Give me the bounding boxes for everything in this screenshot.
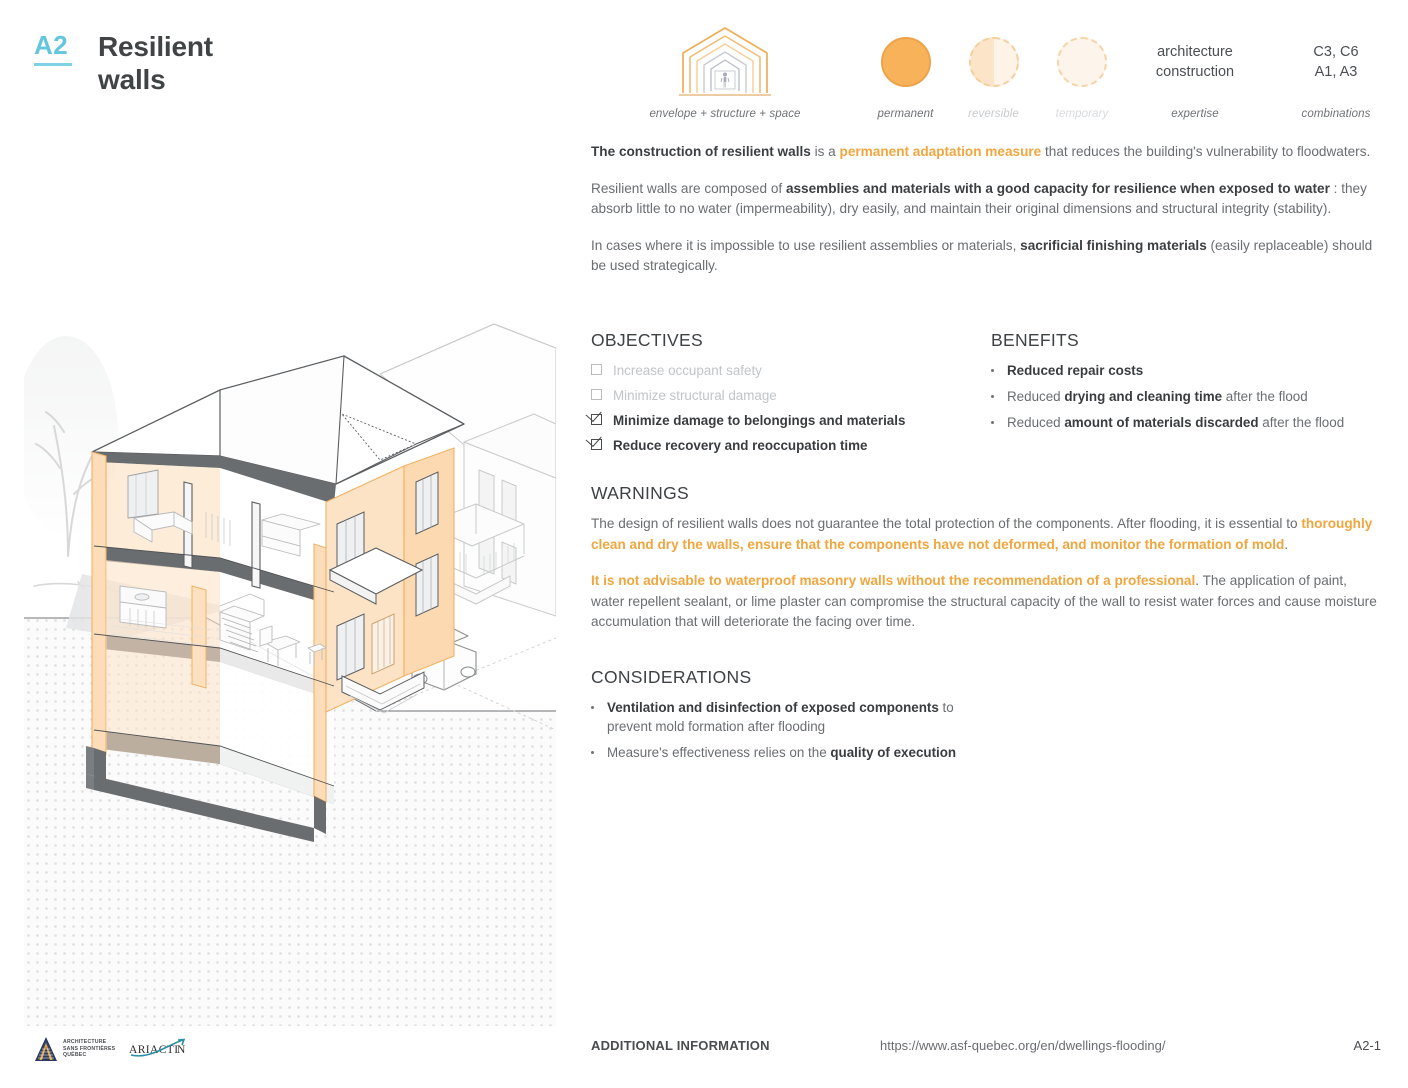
objective-label: Minimize damage to belongings and materi… [613,411,905,430]
pictogram-reversible-caption: reversible [946,108,1041,120]
list-item: Reduced repair costs [991,361,1381,380]
section-benefits: BENEFITS Reduced repair costsReduced dry… [991,330,1381,439]
objective-label: Reduce recovery and reoccupation time [613,436,868,455]
sheet-code: A2 [34,30,88,60]
resilient-wall-front-column [314,544,326,802]
pictogram-permanent: permanent [858,22,953,120]
combinations-value-2: A1, A3 [1315,62,1358,82]
section-warnings: WARNINGS The design of resilient walls d… [591,483,1381,649]
list-item: Ventilation and disinfection of exposed … [591,698,991,736]
bullet-dot [991,421,994,424]
pictogram-scope: envelope + structure + space [590,22,860,120]
objectives-list: Increase occupant safetyMinimize structu… [591,361,991,455]
objective-label: Increase occupant safety [613,361,762,380]
pictogram-scope-caption: envelope + structure + space [590,108,860,120]
objective-item[interactable]: Minimize structural damage [591,386,991,405]
additional-information-url[interactable]: https://www.asf-quebec.org/en/dwellings-… [880,1038,1165,1053]
pictogram-combinations: C3, C6 A1, A3 combinations [1266,22,1406,120]
pictogram-permanent-caption: permanent [858,108,953,120]
sheet-code-block: A2 [34,30,88,66]
asf-logo-text: ARCHITECTURESANS FRONTIÈRESQUÉBEC [63,1039,115,1058]
list-item-label: Reduced amount of materials discarded af… [1007,413,1344,432]
pictogram-reversible: reversible [946,22,1041,120]
intro-paragraph-2: Resilient walls are composed of assembli… [591,179,1381,220]
objectives-heading: OBJECTIVES [591,330,991,351]
list-item: Measure's effectiveness relies on the qu… [591,743,991,762]
objective-checkbox[interactable] [591,414,602,425]
warnings-paragraph-2: It is not advisable to waterproof masonr… [591,571,1381,633]
resilient-wall-left-edge [92,452,106,754]
intro-paragraph-3: In cases where it is impossible to use r… [591,236,1381,277]
list-item-label: Reduced repair costs [1007,361,1143,380]
intro-paragraph-1: The construction of resilient walls is a… [591,142,1381,163]
left-column: A2 Resilientwalls [0,0,560,1088]
pictogram-expertise-caption: expertise [1120,108,1270,120]
footer-logos: ARCHITECTURESANS FRONTIÈRESQUÉBEC ARIACT… [34,1036,191,1062]
illustration-isometric-house-section [24,256,556,1026]
list-item: Reduced amount of materials discarded af… [991,413,1381,432]
objective-label: Minimize structural damage [613,386,777,405]
list-item-label: Reduced drying and cleaning time after t… [1007,387,1308,406]
logo-ariaction: ARIACTI N [129,1038,191,1060]
dashed-circle-icon [1033,22,1131,102]
expertise-value-2: construction [1156,62,1234,82]
objective-checkbox[interactable] [591,389,602,400]
considerations-heading: CONSIDERATIONS [591,667,991,688]
pictogram-expertise: architecture construction expertise [1120,22,1270,120]
list-item-label: Ventilation and disinfection of exposed … [607,698,991,736]
pictogram-combinations-caption: combinations [1266,108,1406,120]
pictogram-strip: envelope + structure + space permanent r… [590,22,1380,122]
combinations-value-1: C3, C6 [1313,42,1358,62]
expertise-values: architecture construction [1120,22,1270,102]
list-item-label: Measure's effectiveness relies on the qu… [607,743,956,762]
svg-text:N: N [177,1044,186,1056]
sheet-code-underline [34,63,72,66]
benefits-list: Reduced repair costsReduced drying and c… [991,361,1381,432]
expertise-value-1: architecture [1157,42,1233,62]
pictogram-temporary-caption: temporary [1033,108,1131,120]
combinations-values: C3, C6 A1, A3 [1266,22,1406,102]
sheet-header: A2 Resilientwalls [34,30,213,96]
sheet-page: A2 Resilientwalls [0,0,1408,1088]
objective-item[interactable]: Reduce recovery and reoccupation time [591,436,991,455]
intro-text: The construction of resilient walls is a… [591,142,1381,293]
page-footer: ADDITIONAL INFORMATION https://www.asf-q… [591,1038,1381,1056]
bullet-dot [591,751,594,754]
filled-circle-icon [858,22,953,102]
warnings-heading: WARNINGS [591,483,1381,504]
warnings-paragraph-1: The design of resilient walls does not g… [591,514,1381,555]
entry-door [372,614,394,674]
page-title: Resilientwalls [98,30,213,96]
section-objectives: OBJECTIVES Increase occupant safetyMinim… [591,330,991,461]
right-column: envelope + structure + space permanent r… [560,0,1408,1088]
list-item: Reduced drying and cleaning time after t… [991,387,1381,406]
page-number: A2-1 [1354,1038,1381,1053]
considerations-list: Ventilation and disinfection of exposed … [591,698,991,762]
objective-checkbox[interactable] [591,439,602,450]
benefits-heading: BENEFITS [991,330,1381,351]
house-layers-icon [590,22,860,102]
bullet-dot [591,706,594,709]
objective-item[interactable]: Minimize damage to belongings and materi… [591,411,991,430]
pictogram-temporary: temporary [1033,22,1131,120]
section-considerations: CONSIDERATIONS Ventilation and disinfect… [591,667,991,769]
bullet-dot [991,369,994,372]
bullet-dot [991,395,994,398]
logo-asf-quebec: ARCHITECTURESANS FRONTIÈRESQUÉBEC [34,1036,115,1062]
additional-information-label: ADDITIONAL INFORMATION [591,1038,770,1053]
asf-logo-mark [34,1036,58,1062]
objective-checkbox[interactable] [591,364,602,375]
half-dashed-circle-icon [946,22,1041,102]
objective-item[interactable]: Increase occupant safety [591,361,991,380]
